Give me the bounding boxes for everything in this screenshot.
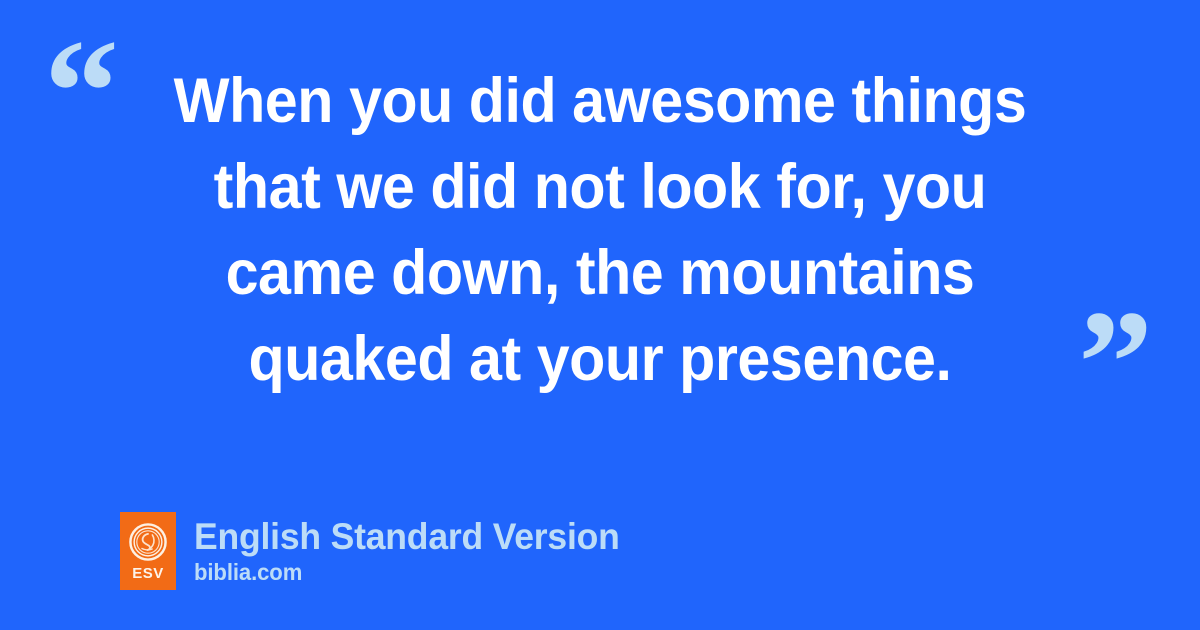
close-quotation-mark-icon: ” xyxy=(1078,288,1153,438)
esv-logo-tile: ESV xyxy=(120,512,176,590)
esv-logo-abbreviation: ESV xyxy=(132,566,164,581)
attribution-text: English Standard Version biblia.com xyxy=(194,516,637,586)
attribution: ESV English Standard Version biblia.com xyxy=(120,512,637,590)
quote-line-2: that we did not look for, you xyxy=(92,144,1107,230)
translation-name: English Standard Version xyxy=(194,516,620,558)
source-url: biblia.com xyxy=(194,558,620,586)
bible-verse-card: “ When you did awesome things that we di… xyxy=(0,0,1200,630)
quote-line-3: came down, the mountains xyxy=(92,230,1107,316)
esv-seal-icon xyxy=(129,523,167,561)
quote-line-4: quaked at your presence. xyxy=(92,316,1107,402)
quote-line-1: When you did awesome things xyxy=(92,58,1107,144)
quote-text-block: When you did awesome things that we did … xyxy=(60,58,1140,402)
